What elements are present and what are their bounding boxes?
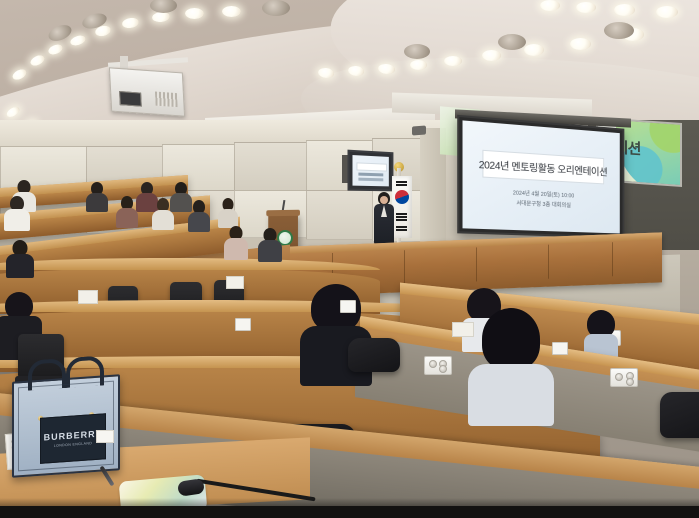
trigram-bar (396, 219, 407, 221)
attendee-head (482, 308, 540, 370)
wall-panel (234, 142, 308, 192)
attendee (218, 198, 238, 226)
downlight (410, 60, 427, 70)
downlight (482, 50, 501, 61)
wall-mounted-monitor (347, 150, 393, 192)
downlight (524, 44, 544, 56)
ceiling-speaker (404, 44, 430, 59)
projector-vent (155, 92, 178, 108)
downlight (656, 6, 678, 18)
presenter-person (374, 192, 394, 244)
paper-on-desk (226, 276, 244, 289)
attendee (116, 196, 138, 226)
attendee-foreground-right (468, 308, 554, 418)
podium-top (266, 210, 300, 217)
ceiling-projector (109, 67, 185, 116)
slide-title: 2024년 멘토링활동 오리엔테이션 (479, 156, 608, 179)
attendee-body (6, 254, 34, 278)
trigram-bar (396, 216, 407, 218)
desk-data-plate (552, 342, 568, 355)
attendee (6, 240, 34, 276)
downlight (444, 56, 462, 66)
taeguk-icon (395, 190, 409, 204)
desk-power-outlet (610, 368, 638, 387)
ceiling-speaker (498, 34, 526, 50)
attendee (188, 200, 210, 230)
downlight (614, 4, 635, 16)
attendee (86, 182, 108, 210)
downlight (540, 0, 560, 11)
outlet-socket-icon (615, 373, 623, 381)
attendee-body (258, 240, 282, 262)
attendee (258, 228, 282, 260)
ceiling-speaker (604, 22, 634, 39)
monitor-screen (352, 155, 388, 186)
attendee-body (468, 364, 554, 426)
attendee-body (86, 193, 108, 212)
dais-panel-seam (404, 250, 405, 284)
attendee-body (4, 209, 30, 231)
backpack-on-desk (348, 338, 400, 372)
outlet-socket-icon (626, 378, 634, 386)
paper-on-desk (78, 290, 98, 304)
main-projection-screen: 2024년 멘토링활동 오리엔테이션 2024년 4월 20일(토) 10:00… (457, 115, 624, 239)
attendee (152, 198, 174, 228)
trigram-bar (396, 226, 407, 228)
outlet-socket-icon (429, 360, 437, 368)
attendee-body (224, 238, 248, 260)
trigram-bar (396, 184, 407, 186)
microphone-head (177, 478, 205, 496)
attendee (224, 226, 248, 258)
desk-power-outlet (424, 356, 452, 375)
ceiling-camera (412, 126, 426, 136)
outlet-socket-icon (439, 365, 447, 373)
south-korea-flag (392, 176, 412, 238)
wall-panel (306, 190, 374, 240)
monitor-slide-title-box (356, 162, 387, 172)
lecture-hall-photo: 테이션 2024년 멘토링활동 오리엔테이션 2024년 4월 20일(토) 1… (0, 0, 699, 518)
projector-lens (119, 91, 142, 107)
ceiling-speaker (262, 0, 290, 16)
attendee-body (116, 208, 138, 228)
dais-panel-seam (476, 247, 477, 281)
attendee-body (152, 210, 174, 230)
dais-panel-seam (612, 242, 613, 276)
bottom-letterbox (0, 506, 699, 518)
tote-bag: BURBERRY LONDON ENGLAND (12, 374, 120, 478)
trigram-bar (396, 229, 407, 231)
downlight (576, 2, 596, 13)
backpack-right (660, 392, 699, 438)
presenter-face (380, 196, 388, 204)
desk-data-plate (235, 318, 251, 331)
attendee (4, 196, 30, 230)
screen-surface: 2024년 멘토링활동 오리엔테이션 2024년 4월 20일(토) 10:00… (463, 120, 620, 233)
attendee-body (188, 212, 210, 232)
dais-panel-seam (548, 245, 549, 279)
downlight (222, 6, 241, 17)
trigram-bar (396, 213, 407, 215)
downlight (185, 8, 204, 19)
slide-subtitle: 2024년 4월 20일(토) 10:00 서대문구청 3층 대회의실 (463, 187, 620, 213)
trigram-bar (396, 181, 407, 183)
desk-data-plate (340, 300, 356, 313)
attendee (584, 310, 618, 356)
monitor-slide-subtitle (358, 173, 383, 177)
downlight (570, 38, 591, 50)
name-card (96, 430, 114, 443)
slide-title-box: 2024년 멘토링활동 오리엔테이션 (483, 150, 604, 185)
paper-on-desk (452, 322, 474, 337)
